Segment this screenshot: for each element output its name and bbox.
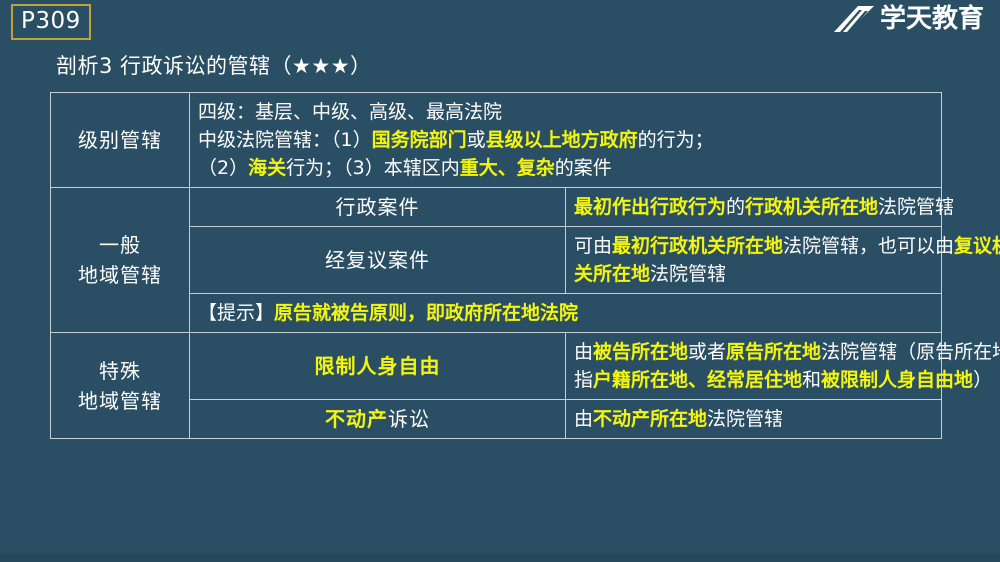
table-row: 一般 地域管辖 行政案件 最初作出行政行为的行政机关所在地法院管辖 — [51, 188, 942, 227]
brand-name: 学天教育 — [880, 6, 984, 32]
seg-highlight: 县级以上地方政府 — [486, 129, 638, 151]
seg: 或 — [467, 129, 486, 151]
seg-highlight: 行政机关所在地 — [745, 196, 878, 218]
seg: 行为；（3）本辖区内 — [286, 157, 460, 179]
cell-personal-liberty-content: 由被告所在地或者原告所在地法院管辖（原告所在地 指户籍所在地、经常居住地和被限制… — [566, 333, 942, 400]
seg-highlight: 原告所在地 — [726, 341, 821, 363]
text-line: 中级法院管辖：（1）国务院部门或县级以上地方政府的行为； — [198, 126, 933, 154]
seg: 指 — [574, 369, 593, 391]
slide-canvas: P309 学天教育 剖析3 行政诉讼的管辖（★★★） 级别管辖 四级：基层、中级… — [0, 0, 1000, 562]
seg: 法院管辖 — [650, 263, 726, 285]
text-line: （2）海关行为；（3）本辖区内重大、复杂的案件 — [198, 154, 933, 182]
jurisdiction-table: 级别管辖 四级：基层、中级、高级、最高法院 中级法院管辖：（1）国务院部门或县级… — [50, 92, 942, 439]
seg: 中级法院管辖：（1） — [198, 129, 372, 151]
seg: 的 — [726, 196, 745, 218]
seg: 法院管辖 — [878, 196, 954, 218]
row-header-line: 地域管辖 — [59, 260, 181, 290]
text-line: 最初作出行政行为的行政机关所在地法院管辖 — [574, 193, 933, 221]
seg-highlight: 被限制人身自由地 — [821, 369, 973, 391]
seg-highlight: 不动产 — [325, 407, 388, 431]
seg-highlight: 复议机 — [954, 235, 1000, 257]
subhead-reconsidered-case: 经复议案件 — [190, 227, 566, 294]
seg: 的案件 — [555, 157, 612, 179]
seg: 的行为； — [638, 129, 714, 151]
seg-highlight: 海关 — [248, 157, 286, 179]
seg-highlight: 国务院部门 — [372, 129, 467, 151]
row-header-line: 特殊 — [59, 356, 181, 386]
table-row: 级别管辖 四级：基层、中级、高级、最高法院 中级法院管辖：（1）国务院部门或县级… — [51, 93, 942, 188]
cell-level-jurisdiction-content: 四级：基层、中级、高级、最高法院 中级法院管辖：（1）国务院部门或县级以上地方政… — [190, 93, 942, 188]
seg-highlight: 限制人身自由 — [315, 354, 441, 378]
seg: 由 — [574, 341, 593, 363]
row-header-special-territorial: 特殊 地域管辖 — [51, 333, 190, 439]
text-line: 指户籍所在地、经常居住地和被限制人身自由地） — [574, 366, 933, 394]
slide-header: P309 学天教育 — [0, 0, 1000, 44]
seg: 由 — [574, 408, 593, 430]
seg: （2） — [198, 157, 248, 179]
seg: 诉讼 — [388, 407, 430, 431]
seg: 或者 — [688, 341, 726, 363]
row-header-line: 一般 — [59, 230, 181, 260]
cell-reconsidered-case-content: 可由最初行政机关所在地法院管辖，也可以由复议机 关所在地法院管辖 — [566, 227, 942, 294]
seg: 和 — [802, 369, 821, 391]
seg-highlight: 户籍所在地、经常居住地 — [593, 369, 802, 391]
cell-real-estate-litigation-content: 由不动产所在地法院管辖 — [566, 400, 942, 439]
table-row: 特殊 地域管辖 限制人身自由 由被告所在地或者原告所在地法院管辖（原告所在地 指… — [51, 333, 942, 400]
seg-highlight: 关所在地 — [574, 263, 650, 285]
seg: 可由 — [574, 235, 612, 257]
text-line: 可由最初行政机关所在地法院管辖，也可以由复议机 — [574, 232, 933, 260]
seg-highlight: 不动产所在地 — [593, 408, 707, 430]
text-line: 由不动产所在地法院管辖 — [574, 405, 933, 433]
seg: ） — [973, 369, 992, 391]
brand-logo: 学天教育 — [834, 6, 984, 32]
cell-tip: 【提示】原告就被告原则，即政府所在地法院 — [190, 294, 942, 333]
row-header-line: 地域管辖 — [59, 386, 181, 416]
page-title: 剖析3 行政诉讼的管辖（★★★） — [56, 52, 372, 80]
seg-highlight: 被告所在地 — [593, 341, 688, 363]
seg: 法院管辖，也可以由 — [783, 235, 954, 257]
swoosh-stripes-icon — [834, 6, 874, 32]
text-line: 四级：基层、中级、高级、最高法院 — [198, 98, 933, 126]
seg: 四级：基层、中级、高级、最高法院 — [198, 101, 502, 123]
seg-highlight: 重大、复杂 — [460, 157, 555, 179]
subhead-real-estate-litigation: 不动产诉讼 — [190, 400, 566, 439]
page-number-badge: P309 — [11, 4, 91, 40]
text-line: 由被告所在地或者原告所在地法院管辖（原告所在地 — [574, 338, 933, 366]
bottom-bar — [0, 553, 1000, 562]
seg-highlight: 最初行政机关所在地 — [612, 235, 783, 257]
row-header-level-jurisdiction: 级别管辖 — [51, 93, 190, 188]
seg: 法院管辖 — [707, 408, 783, 430]
row-header-general-territorial: 一般 地域管辖 — [51, 188, 190, 333]
subhead-personal-liberty: 限制人身自由 — [190, 333, 566, 400]
subhead-administrative-case: 行政案件 — [190, 188, 566, 227]
text-line: 关所在地法院管辖 — [574, 260, 933, 288]
seg: 【提示】 — [198, 302, 274, 324]
cell-administrative-case-content: 最初作出行政行为的行政机关所在地法院管辖 — [566, 188, 942, 227]
seg-highlight: 最初作出行政行为 — [574, 196, 726, 218]
seg-highlight: 原告就被告原则，即政府所在地法院 — [274, 302, 578, 324]
seg: 法院管辖（原告所在地 — [821, 341, 1000, 363]
